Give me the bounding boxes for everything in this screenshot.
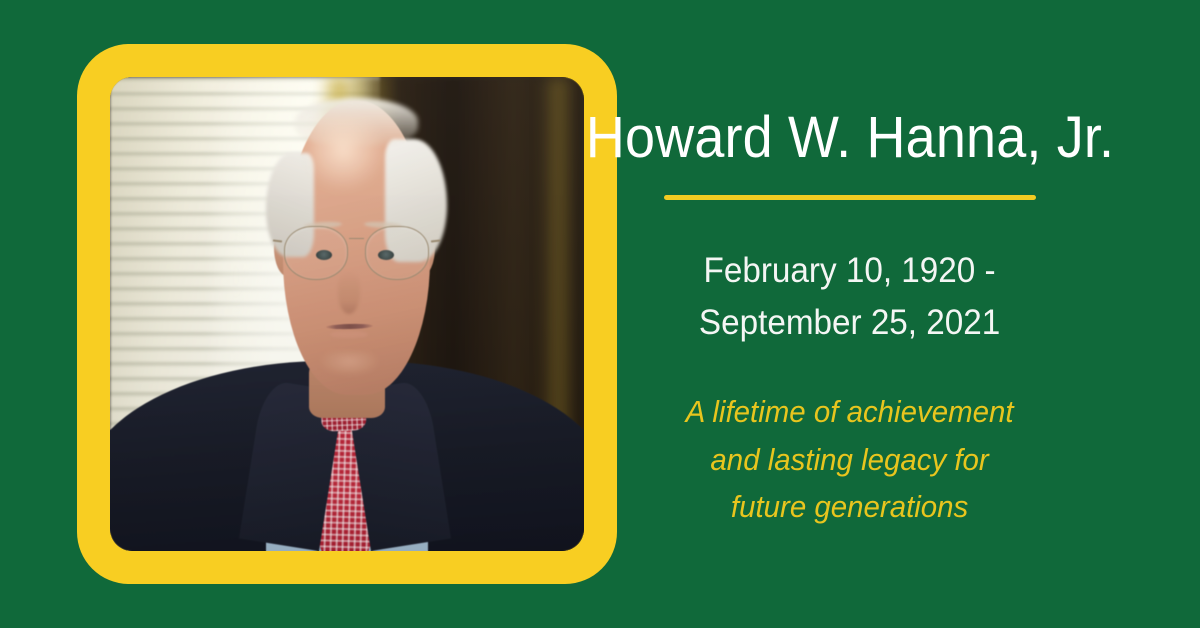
memorial-text-panel: Howard W. Hanna, Jr. February 10, 1920 -… xyxy=(640,0,1060,628)
eyeglasses xyxy=(281,226,433,278)
memorial-tagline: A lifetime of achievement and lasting le… xyxy=(686,388,1014,529)
lower-lip xyxy=(330,331,368,338)
forehead-highlight xyxy=(309,115,385,191)
memorial-dates: February 10, 1920 - September 25, 2021 xyxy=(699,245,1000,349)
chin xyxy=(319,352,381,376)
eyeglass-bridge xyxy=(349,238,364,240)
portrait-photo xyxy=(110,77,584,551)
memorial-name: Howard W. Hanna, Jr. xyxy=(586,108,1114,169)
tagline-line-1: A lifetime of achievement xyxy=(686,388,1014,435)
gold-divider-rule xyxy=(664,195,1036,200)
memorial-card: Howard W. Hanna, Jr. February 10, 1920 -… xyxy=(0,0,1200,628)
tagline-line-3: future generations xyxy=(686,483,1014,530)
death-date-line: September 25, 2021 xyxy=(699,297,1000,349)
tagline-line-2: and lasting legacy for xyxy=(686,436,1014,483)
portrait-frame xyxy=(77,44,617,584)
eyeglass-lens-right xyxy=(365,226,429,280)
birth-date-line: February 10, 1920 - xyxy=(699,245,1000,297)
eyeglass-lens-left xyxy=(284,226,348,280)
